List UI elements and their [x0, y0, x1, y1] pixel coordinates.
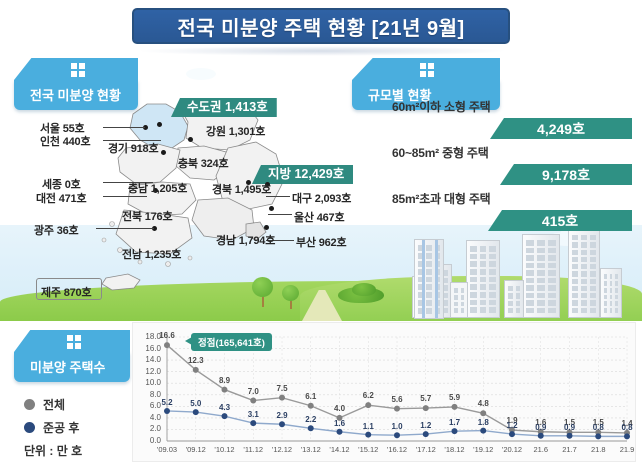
chart-data-label-total: 4.0 — [326, 404, 354, 413]
map-dot-ulsan — [269, 206, 274, 211]
size-value-small: 4,249호 — [490, 118, 632, 139]
chart-x-tick: 21.9 — [611, 445, 642, 454]
building-illustration — [466, 240, 500, 318]
chart-data-label-after: 3.1 — [239, 410, 267, 419]
map-label-gyeonggi: 경기 918호 — [108, 140, 158, 156]
map-dot-chungnam — [188, 137, 193, 142]
chart-x-tick: 21.7 — [554, 445, 586, 454]
chart-data-label-after: 0.8 — [613, 423, 641, 432]
building-illustration — [600, 268, 622, 318]
chart-x-tick: '14.12 — [324, 445, 356, 454]
map-label-gyeongnam: 경남 1,794호 — [216, 232, 275, 248]
chart-y-tick: 12.0 — [135, 367, 161, 376]
map-dot-sejong — [161, 150, 166, 155]
chart-legend: 전체 준공 후 단위 : 만 호 — [24, 396, 128, 459]
house-roof-icon — [352, 58, 500, 80]
leader-line — [103, 127, 145, 128]
building-illustration — [568, 229, 600, 318]
chart-x-tick: '18.12 — [439, 445, 471, 454]
chart-data-label-after: 1.0 — [383, 422, 411, 431]
map-banner-sudogwon: 수도권 1,413호 — [171, 98, 277, 117]
map-label-gwangju: 광주 36호 — [34, 222, 78, 238]
size-row-small: 60m²이하 소형 주택 4,249호 — [392, 98, 642, 139]
map-label-ulsan: 울산 467호 — [294, 209, 344, 225]
title-shadow — [136, 46, 508, 56]
legend-item-after: 준공 후 — [24, 419, 128, 436]
chart-x-tick: '15.12 — [352, 445, 384, 454]
chart-y-tick: 0.0 — [135, 436, 161, 445]
chart-unit-label: 단위 : 만 호 — [24, 442, 128, 459]
house-roof-icon — [14, 58, 138, 80]
building-illustration — [522, 234, 560, 318]
map-dot-incheon — [157, 122, 162, 127]
section-header-count-label: 미분양 주택수 — [14, 352, 130, 382]
building-illustration — [450, 282, 468, 318]
unsold-housing-line-chart: 0.02.04.06.08.010.012.014.016.018.0'09.0… — [132, 322, 636, 462]
chart-data-label-total: 12.3 — [182, 356, 210, 365]
legend-label-total: 전체 — [43, 396, 65, 413]
map-label-jeonbuk: 전북 176호 — [122, 208, 172, 224]
chart-data-label-total: 16.6 — [153, 331, 181, 340]
chart-data-label-after: 2.2 — [297, 415, 325, 424]
size-label-medium: 60~85m² 중형 주택 — [392, 144, 642, 161]
house-windows-icon — [67, 335, 81, 349]
infographic-root: 전국 미분양 주택 현황 [21년 9월] 전국 미분양 현황 규모별 현황 — [0, 0, 642, 470]
chart-x-tick: '09.03 — [151, 445, 183, 454]
chart-data-label-total: 8.9 — [211, 376, 239, 385]
chart-data-label-after: 1.8 — [469, 418, 497, 427]
chart-data-label-after: 1.6 — [326, 419, 354, 428]
chart-y-tick: 4.0 — [135, 413, 161, 422]
chart-data-label-total: 5.9 — [441, 393, 469, 402]
legend-label-after: 준공 후 — [43, 419, 79, 436]
legend-dot-total-icon — [24, 399, 35, 410]
chart-y-tick: 10.0 — [135, 378, 161, 387]
map-label-busan: 부산 962호 — [296, 234, 346, 250]
size-label-large: 85m²초과 대형 주택 — [392, 190, 642, 207]
chart-y-tick: 16.0 — [135, 344, 161, 353]
house-roof-icon — [14, 330, 130, 352]
chart-data-label-after: 1.2 — [412, 421, 440, 430]
map-label-jeju: 제주 870호 — [41, 284, 91, 300]
chart-data-label-total: 5.6 — [383, 395, 411, 404]
chart-data-label-after: 4.3 — [211, 403, 239, 412]
size-value-medium: 9,178호 — [500, 164, 632, 185]
map-dot-busan — [264, 225, 269, 230]
size-label-small: 60m²이하 소형 주택 — [392, 98, 642, 115]
chart-data-label-after: 1.2 — [498, 421, 526, 430]
chart-x-tick: 21.8 — [582, 445, 614, 454]
leader-line — [96, 228, 154, 229]
legend-dot-after-icon — [24, 422, 35, 433]
section-header-count: 미분양 주택수 — [14, 330, 130, 382]
chart-y-tick: 2.0 — [135, 424, 161, 433]
chart-x-tick: '11.12 — [237, 445, 269, 454]
map-label-incheon: 인천 440호 — [40, 133, 90, 149]
house-windows-icon — [71, 63, 85, 77]
chart-x-tick: '09.12 — [180, 445, 212, 454]
chart-data-label-after: 0.8 — [584, 423, 612, 432]
map-label-gangwon: 강원 1,301호 — [206, 123, 265, 139]
leader-line — [103, 196, 147, 197]
chart-x-tick: 21.6 — [525, 445, 557, 454]
chart-data-label-total: 7.5 — [268, 384, 296, 393]
chart-data-label-after: 2.9 — [268, 411, 296, 420]
chart-data-label-after: 0.9 — [556, 423, 584, 432]
chart-x-tick: '20.12 — [496, 445, 528, 454]
building-illustration — [414, 239, 444, 319]
chart-data-label-total: 6.2 — [354, 391, 382, 400]
map-label-gyeongbuk: 경북 1,495호 — [212, 181, 271, 197]
chart-y-tick: 14.0 — [135, 355, 161, 364]
by-size-chart: 60m²이하 소형 주택 4,249호 60~85m² 중형 주택 9,178호… — [392, 96, 642, 236]
map-label-chungnam: 충남 1,205호 — [128, 180, 187, 196]
chart-x-tick: '10.12 — [209, 445, 241, 454]
chart-data-label-after: 5.2 — [153, 398, 181, 407]
peak-annotation-badge: 정점(165,641호) — [191, 333, 272, 351]
size-value-large: 415호 — [488, 210, 632, 231]
chart-data-label-total: 7.0 — [239, 387, 267, 396]
map-label-chungbuk: 충북 324호 — [178, 155, 228, 171]
chart-x-tick: '19.12 — [467, 445, 499, 454]
chart-data-label-after: 0.9 — [527, 423, 555, 432]
chart-data-label-total: 5.7 — [412, 394, 440, 403]
chart-data-label-after: 5.0 — [182, 399, 210, 408]
size-row-large: 85m²초과 대형 주택 415호 — [392, 190, 642, 231]
chart-x-tick: '17.12 — [410, 445, 442, 454]
map-label-jeonnam: 전남 1,235호 — [122, 246, 181, 262]
chart-x-tick: '16.12 — [381, 445, 413, 454]
page-title: 전국 미분양 주택 현황 [21년 9월] — [132, 8, 510, 44]
house-windows-icon — [420, 63, 434, 77]
chart-x-tick: '13.12 — [295, 445, 327, 454]
chart-data-label-total: 4.8 — [469, 399, 497, 408]
cloud-icon — [186, 68, 216, 80]
size-row-medium: 60~85m² 중형 주택 9,178호 — [392, 144, 642, 185]
map-label-daegu: 대구 2,093호 — [292, 190, 351, 206]
chart-data-label-total: 6.1 — [297, 392, 325, 401]
chart-data-label-after: 1.1 — [354, 422, 382, 431]
building-illustration — [504, 280, 524, 318]
leader-line — [268, 214, 292, 215]
legend-item-total: 전체 — [24, 396, 128, 413]
map-label-daejeon: 대전 471호 — [36, 190, 86, 206]
chart-x-tick: '12.12 — [266, 445, 298, 454]
chart-data-label-after: 1.7 — [441, 418, 469, 427]
